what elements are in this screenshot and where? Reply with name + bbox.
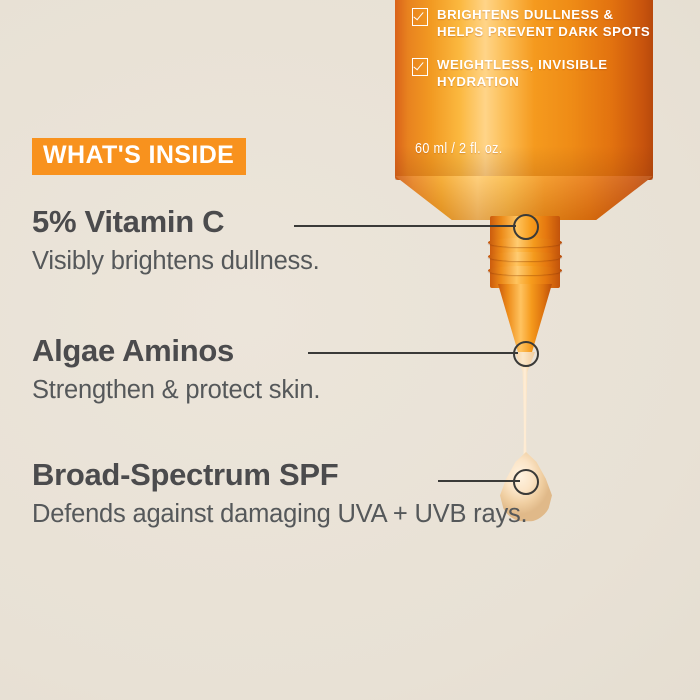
feature-description: Strengthen & protect skin.	[32, 375, 320, 405]
callout-line-algae-aminos	[308, 352, 518, 354]
checkbox-checked-icon	[412, 58, 428, 76]
feature-title: 5% Vitamin C	[32, 206, 320, 239]
tube-claim-item: BRIGHTENS DULLNESS & HELPS PREVENT DARK …	[412, 6, 652, 40]
feature-description: Defends against damaging UVA + UVB rays.	[32, 499, 527, 529]
tube-thread-ring	[488, 252, 562, 261]
tube-thread-ring	[488, 266, 562, 275]
feature-block-broad-spectrum-spf: Broad-Spectrum SPF Defends against damag…	[32, 459, 527, 529]
feature-block-vitamin-c: 5% Vitamin C Visibly brightens dullness.	[32, 206, 320, 276]
feature-block-algae-aminos: Algae Aminos Strengthen & protect skin.	[32, 335, 320, 405]
section-badge-whats-inside: WHAT'S INSIDE	[32, 138, 246, 175]
callout-line-broad-spectrum-spf	[438, 480, 520, 482]
product-infographic: BRIGHTENS DULLNESS & HELPS PREVENT DARK …	[0, 0, 700, 700]
tube-claim-label: WEIGHTLESS, INVISIBLE HYDRATION	[437, 56, 652, 90]
callout-marker-bottle-neck	[513, 214, 539, 240]
tube-volume-label: 60 ml / 2 fl. oz.	[415, 140, 503, 157]
feature-title: Algae Aminos	[32, 335, 320, 368]
tube-claim-label: BRIGHTENS DULLNESS & HELPS PREVENT DARK …	[437, 6, 652, 40]
tube-claims-list: BRIGHTENS DULLNESS & HELPS PREVENT DARK …	[412, 6, 652, 107]
checkbox-checked-icon	[412, 8, 428, 26]
callout-marker-nozzle-tip	[513, 341, 539, 367]
feature-title: Broad-Spectrum SPF	[32, 459, 527, 492]
tube-claim-item: WEIGHTLESS, INVISIBLE HYDRATION	[412, 56, 652, 90]
callout-marker-serum-droplet	[513, 469, 539, 495]
callout-line-vitamin-c	[294, 225, 516, 227]
feature-description: Visibly brightens dullness.	[32, 246, 320, 276]
